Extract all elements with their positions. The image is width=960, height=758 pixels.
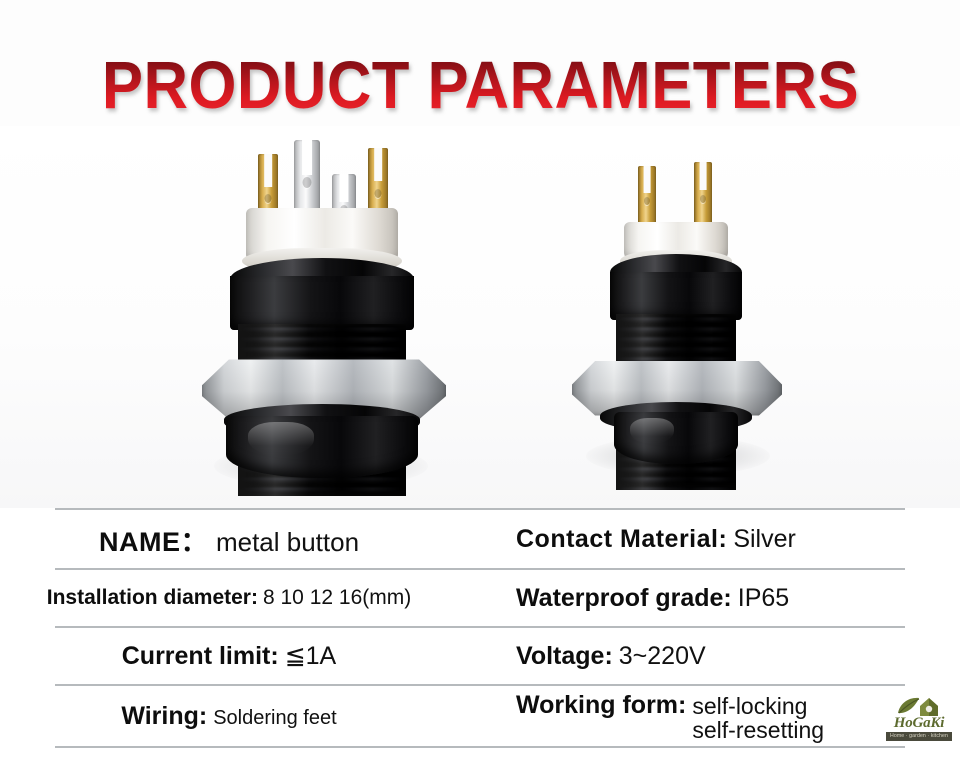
spec-label: Waterproof grade: <box>516 584 732 613</box>
spec-value: ≦1A <box>285 641 337 671</box>
logo-wordmark: HoGaKi <box>884 716 954 731</box>
logo-tagline: Home · garden · kitchen <box>886 732 952 741</box>
spec-label: NAME： <box>99 520 208 559</box>
spec-value-line-1: self-locking <box>692 695 824 718</box>
product-image-right-button <box>562 126 792 508</box>
terminal-notch <box>700 162 707 190</box>
terminal-hole <box>303 177 312 188</box>
terminal-hole <box>265 194 272 203</box>
terminal-notch <box>374 148 382 181</box>
terminal-hole <box>700 195 706 203</box>
spec-value: Silver <box>733 525 796 554</box>
spec-value: metal button <box>216 527 359 558</box>
spec-label: Installation diameter: <box>47 586 258 610</box>
head-highlight <box>630 418 674 444</box>
spec-cell-voltage: Voltage: 3~220V <box>480 642 960 671</box>
table-row: Installation diameter: 8 10 12 16(mm) Wa… <box>0 570 960 626</box>
spec-label: Current limit: <box>122 642 279 671</box>
table-divider <box>55 746 905 748</box>
head-highlight <box>248 422 314 456</box>
spec-value: IP65 <box>738 584 789 613</box>
spec-value: Soldering feet <box>213 707 336 730</box>
table-row: NAME： metal button Contact Material: Sil… <box>0 510 960 568</box>
spec-label: Contact Material: <box>516 525 727 554</box>
spec-cell-installation-diameter: Installation diameter: 8 10 12 16(mm) <box>0 586 480 610</box>
terminal-notch <box>302 140 312 175</box>
spec-cell-wiring: Wiring: Soldering feet <box>0 702 480 731</box>
product-photo-area <box>0 126 960 508</box>
terminal-notch <box>339 174 348 202</box>
spec-label: Voltage: <box>516 642 613 671</box>
button-body-top <box>610 272 742 320</box>
table-row: Wiring: Soldering feet Working form: sel… <box>0 686 960 746</box>
page-title: PRODUCT PARAMETERS <box>101 48 858 124</box>
spec-cell-name: NAME： metal button <box>0 520 480 559</box>
button-body-top <box>230 276 414 330</box>
spec-cell-current-limit: Current limit: ≦1A <box>0 641 480 671</box>
terminal-hole <box>375 189 382 198</box>
table-row: Current limit: ≦1A Voltage: 3~220V <box>0 628 960 684</box>
spec-value: 8 10 12 16(mm) <box>263 586 411 610</box>
spec-value-line-2: self-resetting <box>692 719 824 742</box>
spec-value: self-locking self-resetting <box>692 695 824 742</box>
terminal-notch <box>264 154 272 187</box>
product-parameters-page: PRODUCT PARAMETERS <box>0 0 960 758</box>
spec-value: 3~220V <box>619 642 706 671</box>
brand-logo: HoGaKi Home · garden · kitchen <box>884 694 954 742</box>
spec-label: Wiring: <box>121 702 207 731</box>
terminal-notch <box>644 166 651 193</box>
specification-table: NAME： metal button Contact Material: Sil… <box>0 508 960 758</box>
title-area: PRODUCT PARAMETERS <box>0 48 960 126</box>
spec-cell-waterproof-grade: Waterproof grade: IP65 <box>480 584 960 613</box>
spec-label: Working form: <box>516 691 686 720</box>
product-image-left-button <box>186 126 456 508</box>
terminal-hole <box>644 197 650 205</box>
spec-cell-contact-material: Contact Material: Silver <box>480 525 960 554</box>
